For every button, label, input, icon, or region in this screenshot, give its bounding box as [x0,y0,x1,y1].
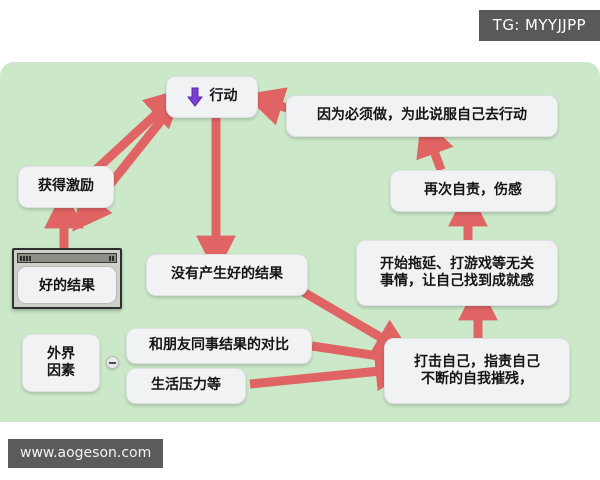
node-compare-label: 和朋友同事结果的对比 [149,337,289,355]
node-good-result-window[interactable]: 好的结果 [12,248,122,309]
window-title-bar [17,253,117,263]
node-action-label: 行动 [210,88,238,106]
window-grip-right-icon [109,256,114,261]
edge-compare-selfattack [312,346,392,358]
node-external[interactable]: 外界 因素 [22,334,100,392]
tg-badge: TG: MYYJJPP [479,10,600,41]
node-no-good-result[interactable]: 没有产生好的结果 [146,254,308,296]
diagram-canvas: 行动 因为必须做，为此说服自己去行动 再次自责，伤感 开始拖延、打游戏等无关 事… [0,62,600,422]
window-grip-left-icon [20,256,31,261]
node-blame-again-label: 再次自责，伤感 [424,182,522,200]
arrow-down-icon [187,87,203,107]
node-procrastinate[interactable]: 开始拖延、打游戏等无关 事情，让自己找到成就感 [356,240,558,306]
node-good-result[interactable]: 好的结果 [17,266,117,304]
screenshot-root: TG: MYYJJPP [0,0,600,480]
node-action[interactable]: 行动 [166,76,258,118]
node-self-attack-label: 打击自己，指责自己 不断的自我摧残， [414,354,540,389]
edge-blameagain-persuade [430,140,441,170]
minus-icon [109,362,116,364]
node-good-result-label: 好的结果 [39,275,95,295]
node-compare[interactable]: 和朋友同事结果的对比 [126,328,312,364]
node-motivation-label: 获得激励 [38,178,94,196]
node-no-good-result-label: 没有产生好的结果 [171,266,283,284]
node-pressure[interactable]: 生活压力等 [126,368,246,404]
node-external-label: 外界 因素 [47,346,75,381]
node-persuade[interactable]: 因为必须做，为此说服自己去行动 [286,95,558,137]
node-blame-again[interactable]: 再次自责，伤感 [390,170,556,212]
collapse-toggle[interactable] [106,356,119,369]
node-persuade-label: 因为必须做，为此说服自己去行动 [317,107,527,125]
node-self-attack[interactable]: 打击自己，指责自己 不断的自我摧残， [384,338,570,404]
node-pressure-label: 生活压力等 [151,377,221,395]
node-motivation[interactable]: 获得激励 [18,166,114,208]
edge-pressure-selfattack [250,370,390,384]
node-procrastinate-label: 开始拖延、打游戏等无关 事情，让自己找到成就感 [380,256,534,291]
site-watermark: www.aogeson.com [8,439,163,468]
